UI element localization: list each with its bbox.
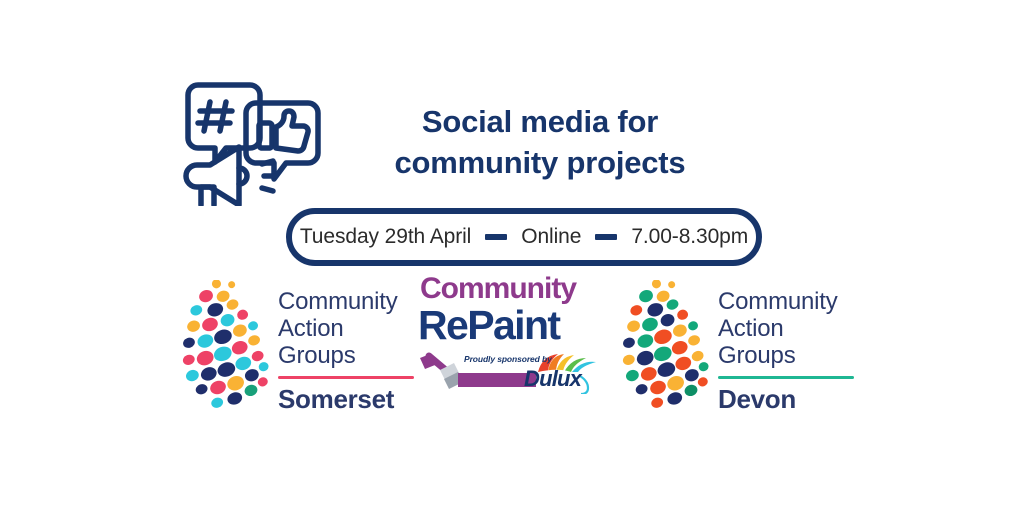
title-line-1: Social media for	[340, 102, 740, 143]
sponsor-label: Proudly sponsored by	[464, 354, 552, 364]
cag-name-line-1: Community	[278, 288, 414, 315]
event-location: Online	[521, 225, 581, 249]
cag-devon-text: Community Action Groups Devon	[718, 276, 854, 415]
event-date: Tuesday 29th April	[300, 225, 471, 249]
social-media-icon-group	[176, 78, 326, 206]
logo-cag-somerset: Community Action Groups Somerset	[172, 276, 414, 416]
title-line-2: community projects	[340, 143, 740, 184]
cag-name-line-3: Groups	[278, 342, 414, 369]
paintbrush-icon	[420, 354, 463, 389]
cag-name-line-3: Groups	[718, 342, 854, 369]
cag-blob-cluster-somerset-icon	[172, 280, 270, 412]
dulux-sponsor-block: Proudly sponsored by Dulux	[418, 350, 610, 394]
cag-place-somerset: Somerset	[278, 384, 414, 415]
megaphone-icon	[186, 147, 276, 205]
event-time: 7.00-8.30pm	[631, 225, 748, 249]
pill-dash-separator-2	[595, 234, 617, 240]
repaint-word-repaint: RePaint	[418, 305, 610, 346]
logo-cag-devon: Community Action Groups Devon	[612, 276, 854, 416]
page-title: Social media for community projects	[340, 102, 740, 184]
poster-canvas: Social media for community projects Tues…	[0, 0, 1024, 512]
cag-place-devon: Devon	[718, 384, 854, 415]
cag-name-line-1: Community	[718, 288, 854, 315]
cag-blob-cluster-devon-icon	[612, 280, 710, 412]
cag-somerset-divider	[278, 376, 414, 379]
cag-name-line-2: Action	[718, 315, 854, 342]
thumbs-up-bubble-icon	[246, 103, 318, 179]
repaint-word-community: Community	[420, 274, 610, 304]
cag-somerset-text: Community Action Groups Somerset	[278, 276, 414, 415]
cag-name-line-2: Action	[278, 315, 414, 342]
event-details-pill: Tuesday 29th April Online 7.00-8.30pm	[286, 208, 762, 266]
logo-row: Community Action Groups Somerset Communi…	[0, 276, 1024, 416]
hashtag-bubble-icon	[188, 85, 260, 162]
pill-dash-separator-1	[485, 234, 507, 240]
dulux-brand-wordmark: Dulux	[524, 366, 581, 392]
cag-devon-divider	[718, 376, 854, 379]
logo-community-repaint: Community RePaint	[418, 274, 610, 416]
